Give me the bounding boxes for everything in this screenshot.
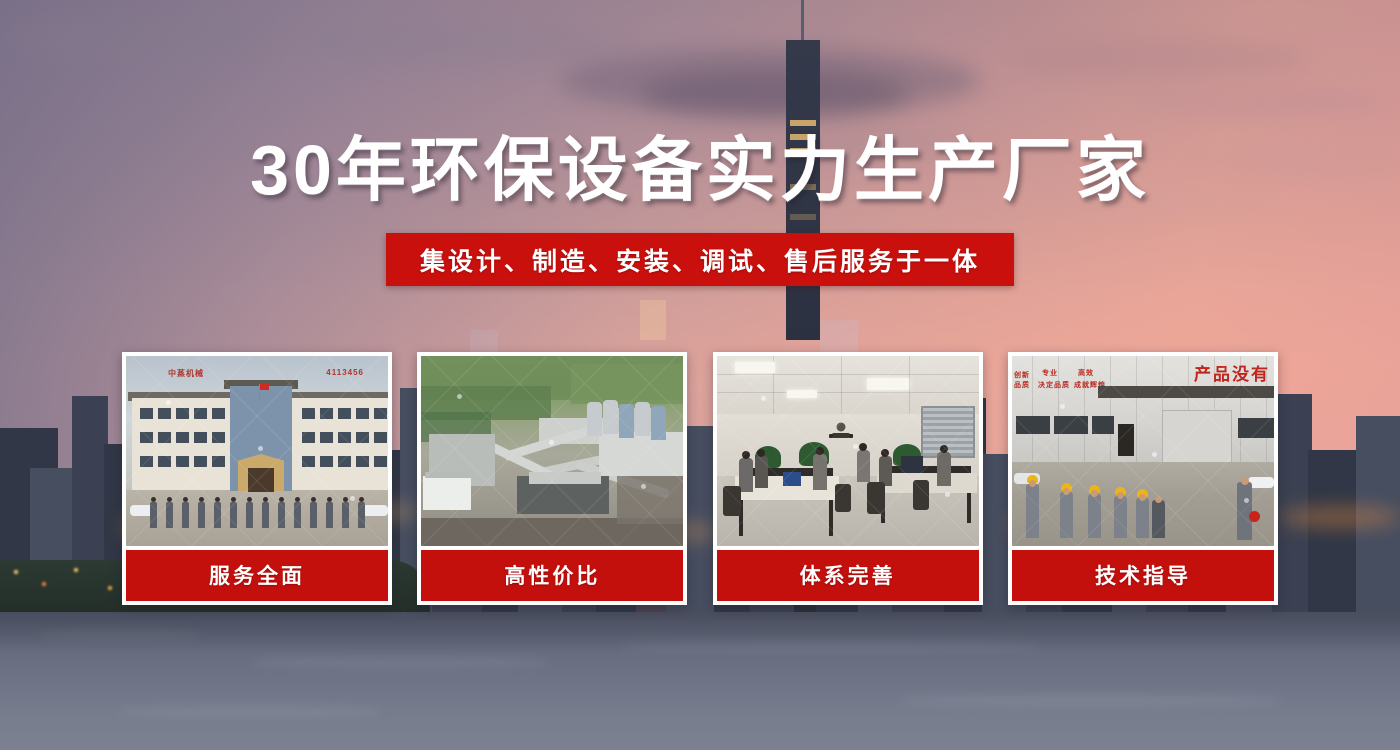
card-caption-bar: 体系完善 bbox=[717, 550, 979, 601]
factory-wall-slogan: 产品没有 bbox=[1194, 360, 1270, 385]
aerial-plant-photo bbox=[421, 356, 683, 546]
subtitle-text: 集设计、制造、安装、调试、售后服务于一体 bbox=[420, 242, 980, 278]
feature-card-system[interactable]: 体系完善 bbox=[713, 352, 983, 605]
card-caption-bar: 服务全面 bbox=[126, 550, 388, 601]
feature-card-service[interactable]: 中蒸机械 4113456 bbox=[122, 352, 392, 605]
card-caption-text: 体系完善 bbox=[800, 560, 896, 590]
card-caption-text: 服务全面 bbox=[209, 560, 305, 590]
workshop-team-photo: 产品没有 创新 品质 专业 决定品质 高效 成就辉煌 bbox=[1012, 356, 1274, 546]
card-caption-bar: 高性价比 bbox=[421, 550, 683, 601]
card-caption-text: 高性价比 bbox=[504, 560, 600, 590]
building-signage: 中蒸机械 bbox=[168, 368, 204, 379]
subtitle-banner: 集设计、制造、安装、调试、售后服务于一体 bbox=[386, 233, 1014, 286]
wall-emblem-icon bbox=[825, 418, 857, 442]
promo-banner: 30年环保设备实力生产厂家 集设计、制造、安装、调试、售后服务于一体 中蒸机械 … bbox=[0, 0, 1400, 750]
card-caption-bar: 技术指导 bbox=[1012, 550, 1274, 601]
feature-card-value[interactable]: 高性价比 bbox=[417, 352, 687, 605]
feature-card-training[interactable]: 产品没有 创新 品质 专业 决定品质 高效 成就辉煌 bbox=[1008, 352, 1278, 605]
company-headquarters-photo: 中蒸机械 4113456 bbox=[126, 356, 388, 546]
feature-card-row: 中蒸机械 4113456 bbox=[122, 352, 1278, 605]
card-caption-text: 技术指导 bbox=[1095, 560, 1191, 590]
office-interior-photo bbox=[717, 356, 979, 546]
page-title: 30年环保设备实力生产厂家 bbox=[0, 135, 1400, 205]
building-phone-number: 4113456 bbox=[326, 368, 364, 377]
